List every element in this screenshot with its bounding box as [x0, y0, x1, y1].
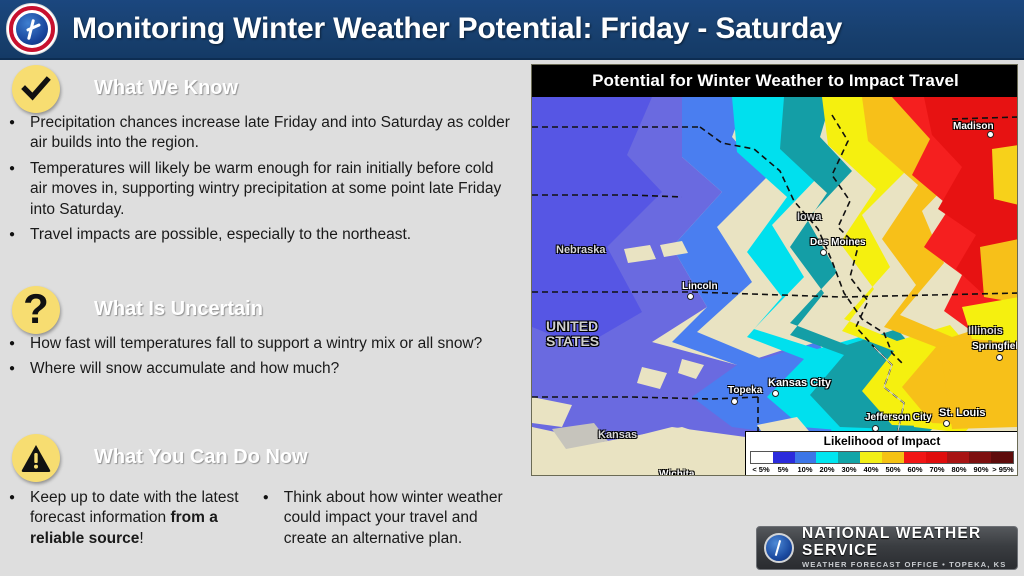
legend-swatch	[969, 452, 991, 463]
noaa-nws-logo	[6, 3, 58, 55]
map-legend: Likelihood of Impact < 5%5%10%20%30%40%5…	[745, 431, 1018, 476]
legend-swatch	[904, 452, 926, 463]
warning-triangle-icon	[12, 434, 60, 482]
legend-label: < 5%	[750, 465, 772, 474]
map-panel[interactable]: Potential for Winter Weather to Impact T…	[531, 64, 1018, 476]
question-mark-icon: ?	[12, 286, 60, 334]
section-title: What Is Uncertain	[64, 298, 263, 321]
city-dot-kansas-city	[772, 390, 779, 397]
legend-label: 90%	[970, 465, 992, 474]
city-label-springfield: Springfield	[972, 341, 1018, 352]
nws-office-logo: NATIONAL WEATHER SERVICE WEATHER FORECAS…	[756, 526, 1018, 570]
bullet-list: How fast will temperatures fall to suppo…	[0, 334, 512, 380]
city-label-topeka: Topeka	[728, 385, 762, 396]
city-label-madison: Madison	[953, 121, 994, 132]
legend-swatch	[795, 452, 817, 463]
city-label-wichita: Wichita	[659, 469, 694, 476]
country-label-line2: STATES	[546, 334, 599, 349]
legend-swatch	[991, 452, 1013, 463]
list-item: Where will snow accumulate and how much?	[0, 359, 512, 379]
section-what-we-know: What We Know Precipitation chances incre…	[0, 71, 512, 251]
city-dot-des-moines	[820, 249, 827, 256]
section-title: What You Can Do Now	[64, 446, 308, 469]
impact-likelihood-map[interactable]: Madison Iowa Des Moines Nebraska Lincoln…	[532, 97, 1018, 476]
legend-swatch	[773, 452, 795, 463]
section-header: What You Can Do Now	[0, 440, 512, 474]
section-header: What We Know	[0, 71, 512, 105]
legend-swatch	[860, 452, 882, 463]
legend-swatch	[926, 452, 948, 463]
city-label-kansas-city: Kansas City	[768, 377, 831, 389]
list-item: Precipitation chances increase late Frid…	[0, 113, 512, 154]
briefing-graphic: Monitoring Winter Weather Potential: Fri…	[0, 0, 1024, 576]
legend-label: 40%	[860, 465, 882, 474]
section-header: What Is Uncertain ?	[0, 292, 512, 326]
nws-logo-line2: WEATHER FORECAST OFFICE • TOPEKA, KS	[802, 560, 1017, 570]
city-label-jefferson-city: Jefferson City	[865, 412, 932, 423]
state-label-iowa: Iowa	[797, 211, 821, 223]
legend-label: 10%	[794, 465, 816, 474]
bullet-list-right: Think about how winter weather could imp…	[254, 488, 512, 554]
city-label-lincoln: Lincoln	[682, 281, 718, 292]
list-item: How fast will temperatures fall to suppo…	[0, 334, 512, 354]
noaa-seal-icon	[764, 533, 794, 563]
legend-label: 20%	[816, 465, 838, 474]
bullet-list-left: Keep up to date with the latest forecast…	[0, 488, 254, 554]
legend-tick-labels: < 5%5%10%20%30%40%50%60%70%80%90%> 95%	[750, 465, 1014, 474]
section-what-you-can-do-now: What You Can Do Now Keep up to date with…	[0, 440, 512, 554]
section-what-is-uncertain: What Is Uncertain ? How fast will temper…	[0, 292, 512, 385]
legend-label: 80%	[948, 465, 970, 474]
nws-logo-line1: NATIONAL WEATHER SERVICE	[802, 526, 1017, 559]
state-label-nebraska: Nebraska	[556, 244, 606, 256]
legend-swatch	[838, 452, 860, 463]
map-title: Potential for Winter Weather to Impact T…	[532, 65, 1018, 97]
legend-label: 5%	[772, 465, 794, 474]
city-dot-topeka	[731, 398, 738, 405]
legend-title: Likelihood of Impact	[750, 434, 1014, 449]
list-item: Temperatures will likely be warm enough …	[0, 159, 512, 220]
state-label-illinois: Illinois	[968, 325, 1003, 337]
checkmark-icon	[12, 65, 60, 113]
list-item: Travel impacts are possible, especially …	[0, 225, 512, 245]
city-label-des-moines: Des Moines	[810, 237, 866, 248]
legend-swatch	[947, 452, 969, 463]
header-bar: Monitoring Winter Weather Potential: Fri…	[0, 0, 1024, 60]
legend-label: > 95%	[992, 465, 1014, 474]
list-item-text-suffix: !	[139, 530, 143, 547]
legend-swatch	[882, 452, 904, 463]
section-title: What We Know	[64, 77, 238, 100]
city-dot-springfield	[996, 354, 1003, 361]
legend-label: 30%	[838, 465, 860, 474]
bullet-list: Precipitation chances increase late Frid…	[0, 113, 512, 246]
city-dot-madison	[987, 131, 994, 138]
legend-swatch	[816, 452, 838, 463]
action-columns: Keep up to date with the latest forecast…	[0, 482, 512, 554]
country-label-line1: UNITED	[546, 319, 599, 334]
list-item: Think about how winter weather could imp…	[254, 488, 512, 549]
state-label-kansas: Kansas	[598, 429, 637, 441]
legend-label: 70%	[926, 465, 948, 474]
page-title: Monitoring Winter Weather Potential: Fri…	[72, 12, 842, 46]
legend-swatch	[751, 452, 773, 463]
legend-label: 60%	[904, 465, 926, 474]
country-label: UNITED STATES	[546, 319, 599, 348]
city-dot-lincoln	[687, 293, 694, 300]
legend-label: 50%	[882, 465, 904, 474]
legend-color-scale	[750, 451, 1014, 464]
city-dot-st-louis	[943, 420, 950, 427]
city-label-st-louis: St. Louis	[939, 407, 985, 419]
list-item: Keep up to date with the latest forecast…	[0, 488, 254, 549]
